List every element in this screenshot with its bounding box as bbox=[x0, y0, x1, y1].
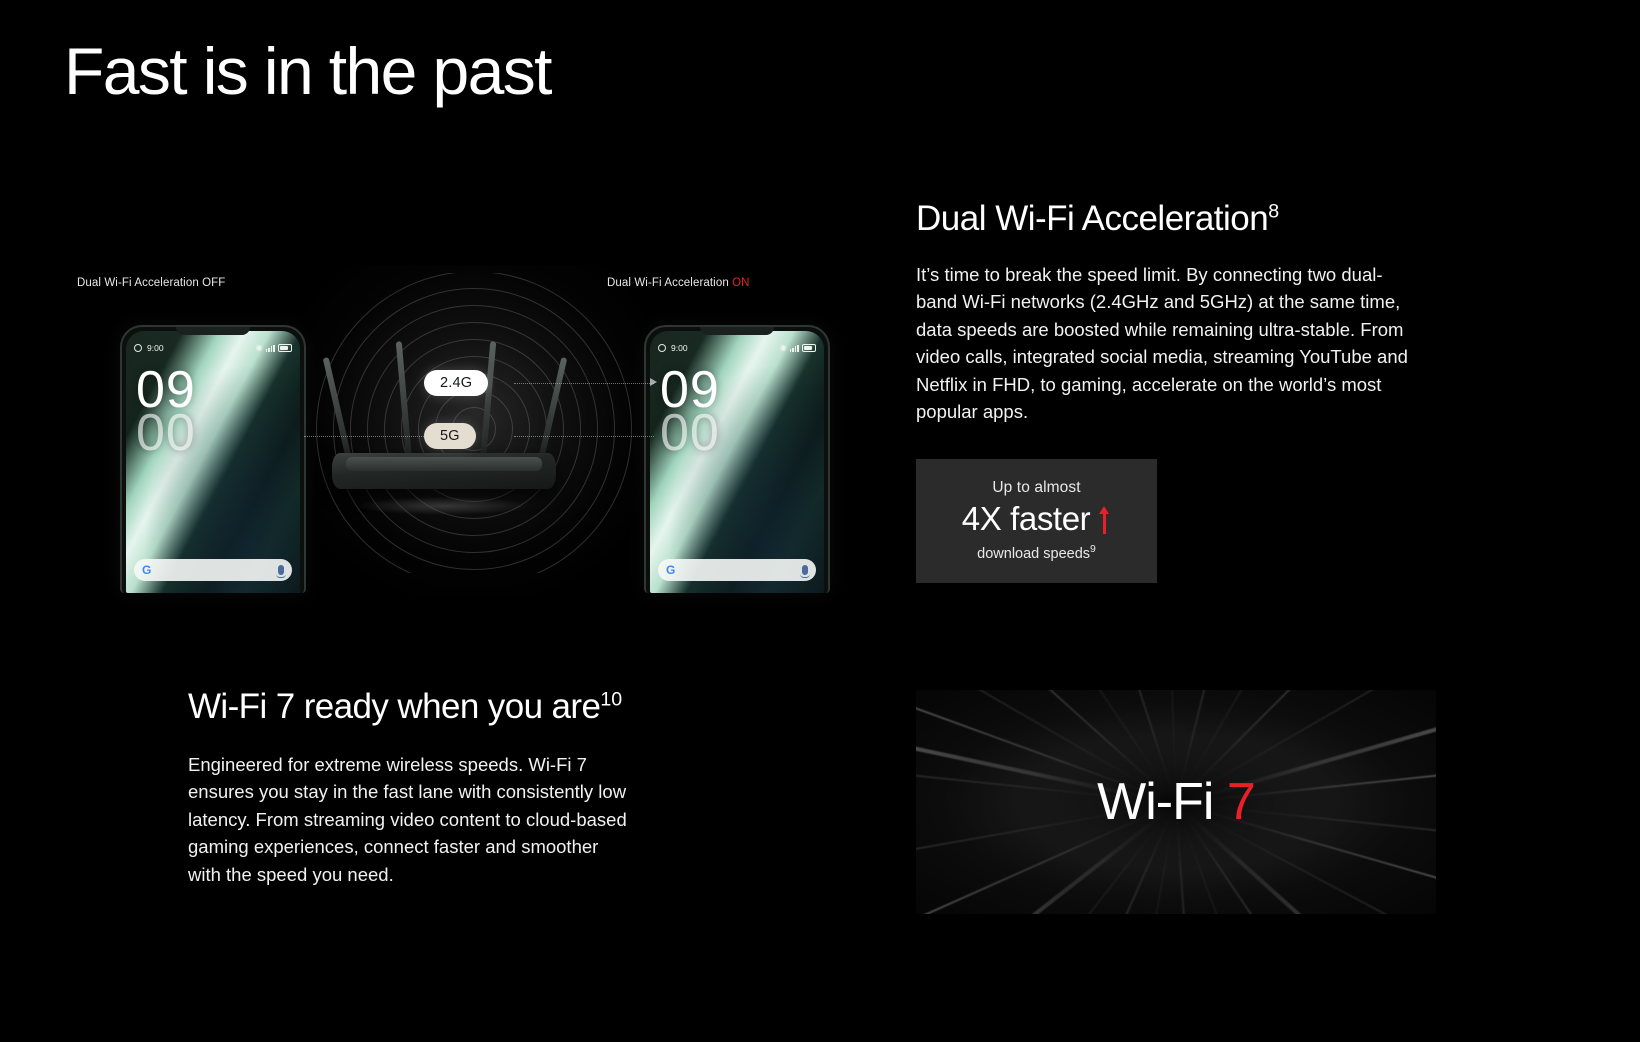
footnote-marker-10: 10 bbox=[600, 688, 622, 710]
google-search-bar-right[interactable]: G bbox=[658, 559, 816, 581]
phone-mockup-right: 9:00 ◉ 09 00 G bbox=[644, 325, 830, 593]
footnote-marker-9: 9 bbox=[1090, 544, 1096, 555]
connector-line-5g-left bbox=[304, 436, 426, 437]
statusbar-indicators: ◉ bbox=[780, 344, 816, 352]
clock-minute: 00 bbox=[136, 412, 196, 455]
router-top-panel bbox=[346, 457, 542, 471]
wifi7-image-panel: Wi-Fi 7 bbox=[916, 690, 1436, 914]
clock-minute: 00 bbox=[660, 412, 720, 455]
page-title: Fast is in the past bbox=[64, 38, 551, 104]
arrow-up-icon bbox=[1098, 505, 1111, 535]
wifi7-section: Wi-Fi 7 ready when you are10 Engineered … bbox=[188, 688, 658, 888]
wifi-icon: ◉ bbox=[780, 344, 787, 352]
phone-notch-left bbox=[176, 327, 250, 335]
signal-ripples-icon bbox=[296, 273, 652, 573]
wifi7-heading-text: Wi-Fi 7 ready when you are bbox=[188, 687, 600, 726]
speed-badge-top-label: Up to almost bbox=[992, 479, 1080, 497]
label-acceleration-on-prefix: Dual Wi-Fi Acceleration bbox=[607, 277, 732, 289]
wifi7-heading: Wi-Fi 7 ready when you are10 bbox=[188, 688, 658, 727]
statusbar-time: 9:00 bbox=[671, 343, 688, 353]
arrow-right-icon bbox=[650, 378, 657, 386]
speed-badge-headline-row: 4X faster bbox=[962, 501, 1111, 537]
wifi7-panel-label: Wi-Fi 7 bbox=[916, 772, 1436, 832]
speed-badge-headline: 4X faster bbox=[962, 501, 1090, 537]
front-camera-icon bbox=[658, 344, 666, 352]
router-reflection bbox=[358, 497, 530, 515]
speed-badge-sub-text: download speeds bbox=[977, 546, 1090, 562]
phone-side-button-right bbox=[828, 413, 830, 447]
wifi7-body: Engineered for extreme wireless speeds. … bbox=[188, 751, 628, 889]
connector-line-24g bbox=[514, 383, 654, 384]
dual-wifi-heading-text: Dual Wi-Fi Acceleration bbox=[916, 199, 1268, 238]
speed-badge-sub-label: download speeds9 bbox=[977, 544, 1096, 562]
signal-bars-icon bbox=[790, 344, 799, 352]
router-body bbox=[332, 453, 556, 489]
band-badge-24g: 2.4G bbox=[424, 370, 488, 396]
signal-bars-icon bbox=[266, 344, 275, 352]
statusbar-indicators: ◉ bbox=[256, 344, 292, 352]
google-logo-icon: G bbox=[142, 564, 151, 576]
connector-line-5g-right bbox=[514, 436, 654, 437]
phone-mockup-left: 9:00 ◉ 09 00 G bbox=[120, 325, 306, 593]
dual-wifi-heading: Dual Wi-Fi Acceleration8 bbox=[916, 200, 1436, 239]
phone-side-button-left bbox=[304, 413, 306, 447]
battery-icon bbox=[278, 344, 292, 352]
band-badge-5g: 5G bbox=[424, 423, 476, 449]
phone-notch-right bbox=[700, 327, 774, 335]
dual-wifi-illustration: Dual Wi-Fi Acceleration OFF Dual Wi-Fi A… bbox=[64, 255, 884, 600]
google-search-bar-left[interactable]: G bbox=[134, 559, 292, 581]
wifi7-panel-label-prefix: Wi-Fi bbox=[1097, 773, 1227, 831]
wifi-icon: ◉ bbox=[256, 344, 263, 352]
label-acceleration-on-state: ON bbox=[732, 277, 749, 289]
footnote-marker-8: 8 bbox=[1268, 200, 1279, 222]
statusbar-time: 9:00 bbox=[147, 343, 164, 353]
microphone-icon[interactable] bbox=[802, 565, 808, 575]
speed-badge: Up to almost 4X faster download speeds9 bbox=[916, 459, 1157, 583]
wifi7-panel-label-accent: 7 bbox=[1227, 773, 1255, 831]
dual-wifi-section: Dual Wi-Fi Acceleration8 It’s time to br… bbox=[916, 200, 1436, 583]
page-root: Fast is in the past Dual Wi-Fi Accelerat… bbox=[0, 0, 1640, 1042]
phone-statusbar-right: 9:00 ◉ bbox=[646, 341, 828, 355]
dual-wifi-body: It’s time to break the speed limit. By c… bbox=[916, 261, 1416, 426]
battery-icon bbox=[802, 344, 816, 352]
label-acceleration-on: Dual Wi-Fi Acceleration ON bbox=[607, 277, 750, 289]
front-camera-icon bbox=[134, 344, 142, 352]
microphone-icon[interactable] bbox=[278, 565, 284, 575]
lockscreen-clock-left: 09 00 bbox=[136, 369, 196, 454]
google-logo-icon: G bbox=[666, 564, 675, 576]
phone-statusbar-left: 9:00 ◉ bbox=[122, 341, 304, 355]
label-acceleration-off: Dual Wi-Fi Acceleration OFF bbox=[77, 277, 225, 289]
lockscreen-clock-right: 09 00 bbox=[660, 369, 720, 454]
